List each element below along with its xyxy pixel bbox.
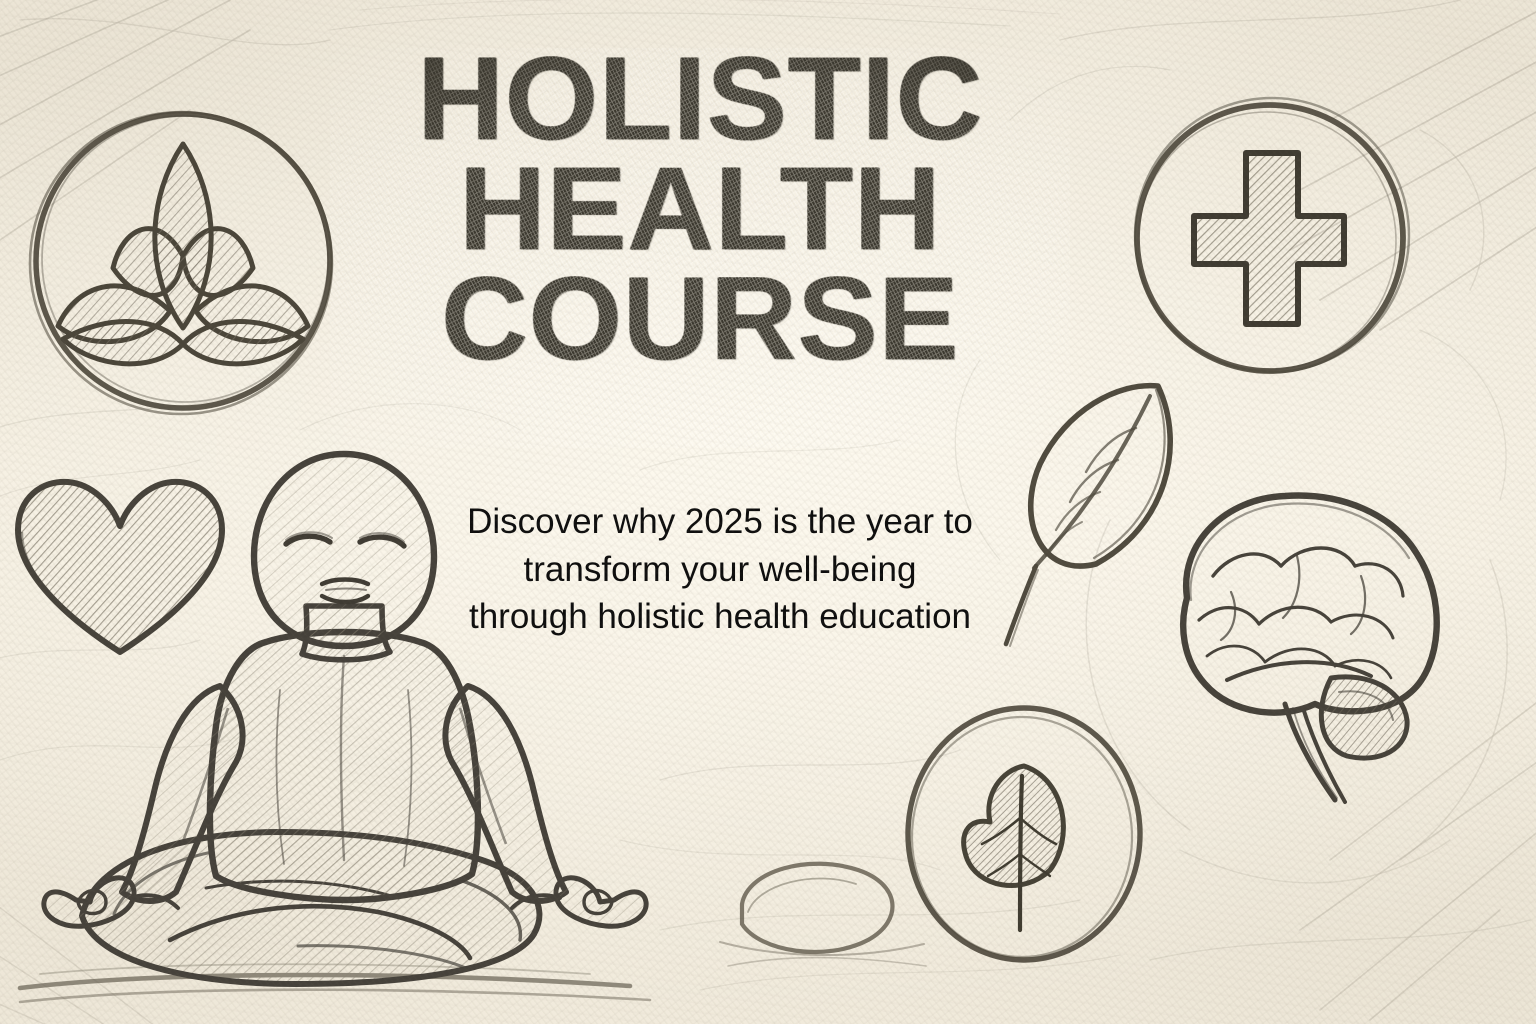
title-line-3: COURSE (323, 268, 1078, 372)
holistic-health-course-poster: HOLISTIC HEALTH COURSE Discover why 2025… (0, 0, 1536, 1024)
heart-icon (8, 466, 232, 662)
title-texture-overlay (330, 48, 1070, 448)
leaf-icon (1000, 368, 1200, 648)
brain-icon (1135, 480, 1485, 820)
subtitle-text: Discover why 2025 is the year to transfo… (460, 498, 980, 641)
meditating-person-illustration (30, 440, 670, 1024)
pebble-shape (718, 848, 928, 968)
lotus-icon (18, 96, 348, 426)
paper-tone-layer (0, 0, 1536, 1024)
medical-cross-icon (1120, 88, 1420, 388)
page-title: HOLISTIC HEALTH COURSE (330, 48, 1070, 371)
background-pencil-strokes (0, 0, 1536, 1024)
title-line-2: HEALTH (323, 158, 1078, 262)
paper-grain-layer (0, 0, 1536, 1024)
title-line-1: HOLISTIC (323, 48, 1078, 152)
leaf-badge-icon (898, 698, 1150, 970)
